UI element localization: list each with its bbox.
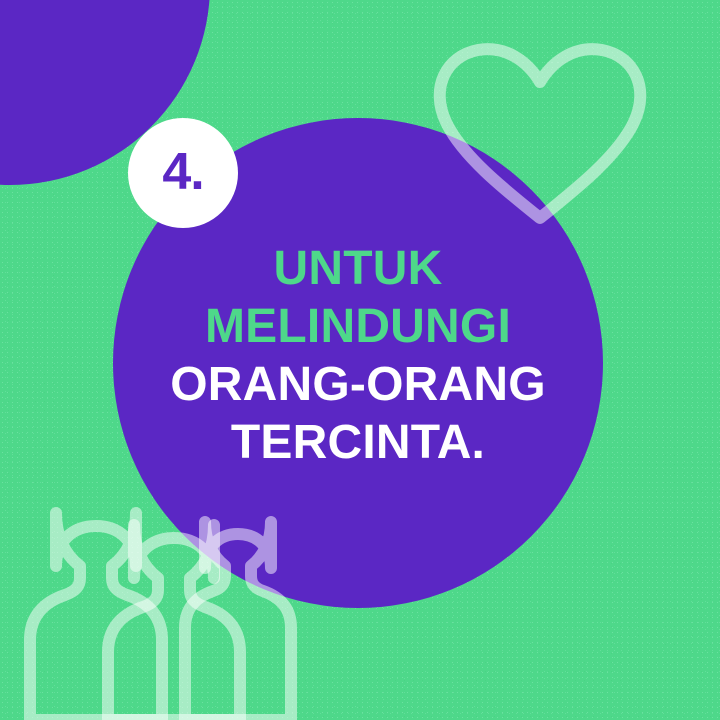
headline-line-3: ORANG-ORANG — [113, 356, 603, 414]
headline-line-1: UNTUK — [113, 240, 603, 298]
headline-line-2: MELINDUNGI — [113, 298, 603, 356]
slide-canvas: 4. UNTUK MELINDUNGI ORANG-ORANG TERCINTA… — [0, 0, 720, 720]
step-number-badge: 4. — [128, 118, 238, 228]
headline-block: UNTUK MELINDUNGI ORANG-ORANG TERCINTA. — [113, 240, 603, 472]
step-number-label: 4. — [162, 146, 203, 198]
person-outline-icon-left — [30, 513, 162, 720]
headline-line-4: TERCINTA. — [113, 414, 603, 472]
